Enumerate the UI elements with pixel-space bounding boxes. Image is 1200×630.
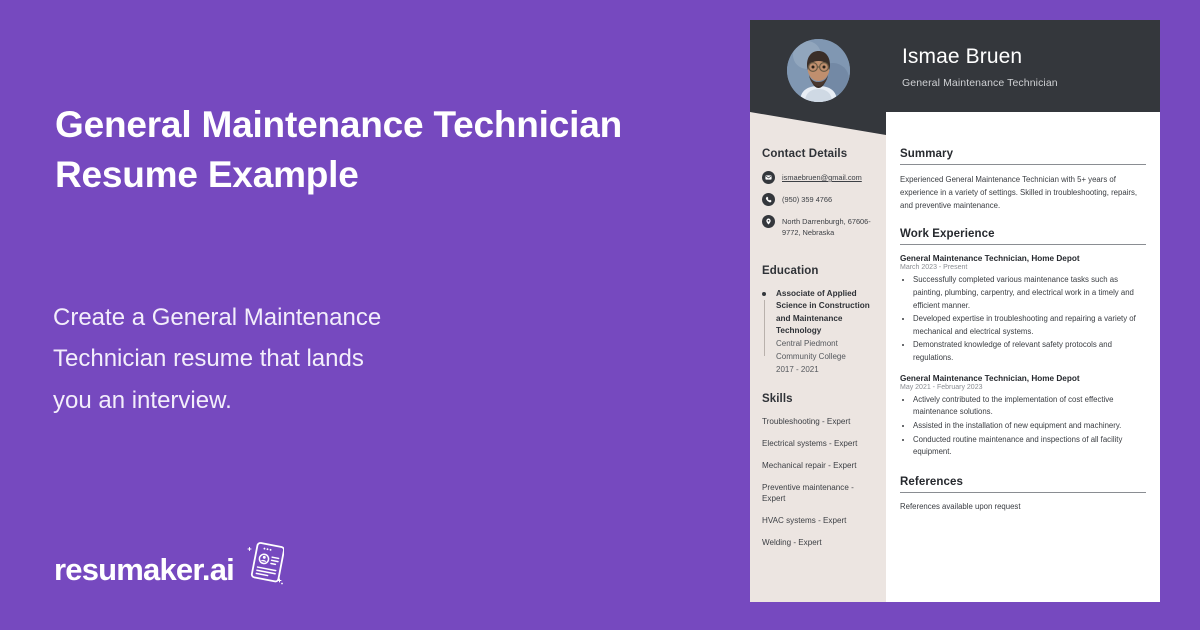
job-bullet: Actively contributed to the implementati… — [913, 394, 1146, 419]
job-dates: May 2021 - February 2023 — [900, 384, 1146, 391]
timeline-line — [764, 300, 765, 356]
summary-text: Experienced General Maintenance Technici… — [900, 173, 1146, 212]
skill-item: Mechanical repair - Expert — [762, 460, 878, 472]
contact-location-value: North Darrenburgh, 67606-9772, Nebraska — [782, 215, 878, 239]
phone-icon — [762, 193, 775, 206]
email-icon — [762, 171, 775, 184]
references-heading: References — [900, 476, 1146, 493]
education-years: 2017 - 2021 — [776, 364, 878, 376]
contact-item-phone[interactable]: (950) 359 4766 — [762, 193, 878, 206]
skill-item: Electrical systems - Expert — [762, 438, 878, 450]
bullet-dot-icon — [762, 292, 766, 296]
job-bullet: Demonstrated knowledge of relevant safet… — [913, 339, 1146, 364]
page-title: General Maintenance Technician Resume Ex… — [55, 100, 705, 199]
location-pin-icon — [762, 215, 775, 228]
job-bullet: Assisted in the installation of new equi… — [913, 420, 1146, 433]
contact-item-location[interactable]: North Darrenburgh, 67606-9772, Nebraska — [762, 215, 878, 239]
resume-preview-card[interactable]: Ismae Bruen General Maintenance Technici… — [750, 20, 1160, 602]
resume-main-content: Summary Experienced General Maintenance … — [900, 148, 1146, 511]
job-bullet: Developed expertise in troubleshooting a… — [913, 313, 1146, 338]
contact-item-email[interactable]: ismaebruen@gmail.com — [762, 171, 878, 184]
work-experience-entry: General Maintenance Technician, Home Dep… — [900, 374, 1146, 459]
job-bullet: Successfully completed various maintenan… — [913, 274, 1146, 312]
logo-wordmark: resumaker.ai — [54, 554, 234, 585]
skill-item: Troubleshooting - Expert — [762, 416, 878, 428]
resume-sidebar-content: Contact Details ismaebruen@gmail.com (95… — [762, 148, 878, 558]
education-entry: Associate of Applied Science in Construc… — [762, 288, 878, 376]
skills-heading: Skills — [762, 393, 878, 405]
skill-item: Welding - Expert — [762, 537, 878, 549]
work-experience-heading: Work Experience — [900, 228, 1146, 245]
job-bullet: Conducted routine maintenance and inspec… — [913, 434, 1146, 459]
job-title: General Maintenance Technician, Home Dep… — [900, 254, 1146, 263]
contact-details-heading: Contact Details — [762, 148, 878, 160]
skill-item: HVAC systems - Expert — [762, 515, 878, 527]
references-text: References available upon request — [900, 502, 1146, 511]
contact-phone-value: (950) 359 4766 — [782, 193, 832, 205]
summary-heading: Summary — [900, 148, 1146, 165]
avatar — [787, 39, 850, 102]
job-dates: March 2023 - Present — [900, 264, 1146, 271]
promo-subtitle: Create a General Maintenance Technician … — [53, 297, 483, 421]
education-school: Central Piedmont Community College — [776, 338, 878, 363]
skill-item: Preventive maintenance - Expert — [762, 482, 878, 505]
contact-email-value: ismaebruen@gmail.com — [782, 171, 862, 183]
resume-document-icon — [238, 538, 284, 591]
job-title: General Maintenance Technician, Home Dep… — [900, 374, 1146, 383]
work-experience-entry: General Maintenance Technician, Home Dep… — [900, 254, 1146, 364]
resume-name: Ismae Bruen — [902, 45, 1022, 69]
promo-panel: General Maintenance Technician Resume Ex… — [0, 0, 750, 630]
education-heading: Education — [762, 265, 878, 277]
resumaker-logo[interactable]: resumaker.ai — [54, 548, 284, 591]
education-degree: Associate of Applied Science in Construc… — [776, 288, 878, 337]
resume-role: General Maintenance Technician — [902, 77, 1058, 89]
